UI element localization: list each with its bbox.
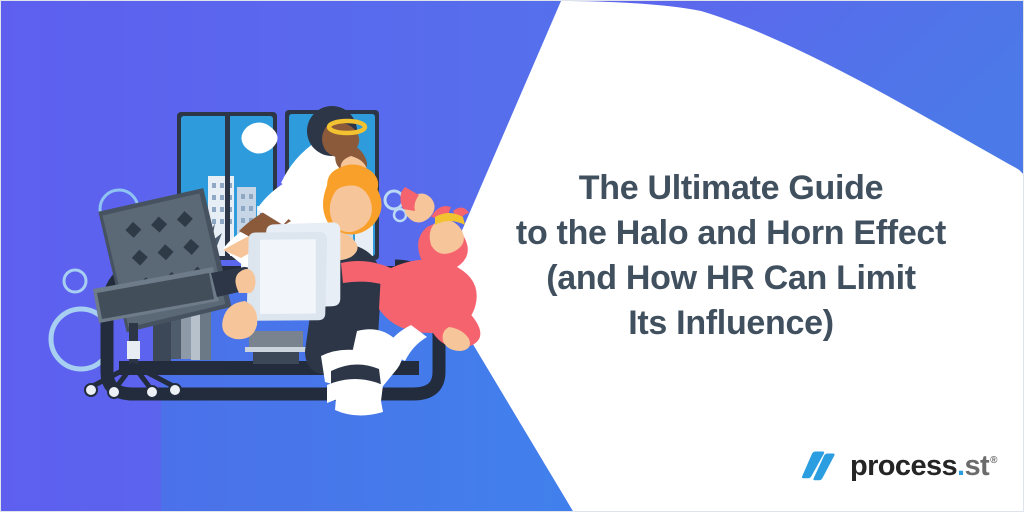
registered-trademark-mark: ® — [990, 456, 997, 466]
logo-separator: . — [957, 452, 964, 481]
desk-monitor — [245, 331, 307, 364]
headline: The Ultimate Guide to the Halo and Horn … — [501, 166, 961, 346]
process-st-logo-icon — [799, 449, 839, 483]
logo-name-secondary: st — [965, 452, 990, 481]
logo-name-primary: process — [850, 452, 957, 481]
brand-logo[interactable]: process . st ® — [799, 449, 996, 483]
feature-image-canvas: The Ultimate Guide to the Halo and Horn … — [0, 0, 1024, 512]
logo-wordmark: process . st ® — [850, 452, 996, 481]
